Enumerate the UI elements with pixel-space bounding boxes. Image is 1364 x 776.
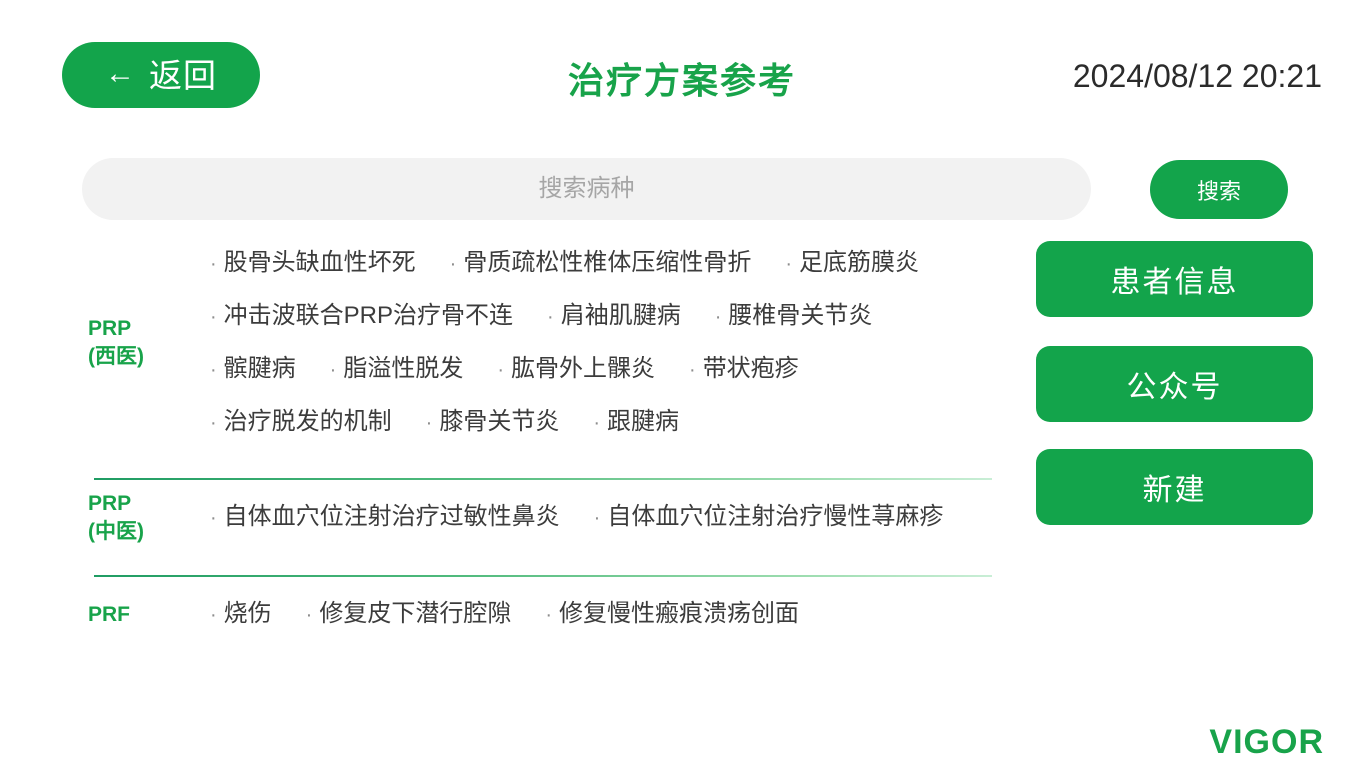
bullet-icon: · xyxy=(594,507,601,529)
disease-item[interactable]: ·股骨头缺血性坏死 xyxy=(210,251,416,275)
bullet-icon: · xyxy=(210,306,217,328)
disease-item[interactable]: ·自体血穴位注射治疗慢性荨麻疹 xyxy=(594,505,944,529)
treatment-reference-page: ← 返回 治疗方案参考 2024/08/12 20:21 搜索 患者信息 公众号… xyxy=(0,0,1364,776)
disease-item-label: 膝骨关节炎 xyxy=(439,408,559,435)
disease-item[interactable]: ·跟腱病 xyxy=(593,410,679,434)
disease-item-label: 修复皮下潜行腔隙 xyxy=(319,600,511,627)
bullet-icon: · xyxy=(210,359,217,381)
bullet-icon: · xyxy=(210,507,217,529)
disease-item-label: 脂溢性脱发 xyxy=(343,355,463,382)
bullet-icon: · xyxy=(547,306,554,328)
bullet-icon: · xyxy=(689,359,696,381)
disease-item[interactable]: ·冲击波联合PRP治疗骨不连 xyxy=(210,304,513,328)
disease-item-label: 髌腱病 xyxy=(224,355,296,382)
disease-item[interactable]: ·带状疱疹 xyxy=(689,357,799,381)
category-label-prp-western: PRP (西医) xyxy=(88,313,196,370)
item-row: ·自体血穴位注射治疗过敏性鼻炎 ·自体血穴位注射治疗慢性荨麻疹 xyxy=(210,490,988,543)
bullet-icon: · xyxy=(785,253,792,275)
disease-item[interactable]: ·肩袖肌腱病 xyxy=(547,304,681,328)
datetime-display: 2024/08/12 20:21 xyxy=(1073,58,1322,95)
search-input[interactable] xyxy=(82,158,1091,220)
disease-item-label: 跟腱病 xyxy=(607,408,679,435)
category-label-line2: (西医) xyxy=(88,343,196,371)
item-row: ·股骨头缺血性坏死 ·骨质疏松性椎体压缩性骨折 ·足底筋膜炎 xyxy=(210,236,988,289)
disease-item-label: 自体血穴位注射治疗过敏性鼻炎 xyxy=(224,503,560,530)
search-button[interactable]: 搜索 xyxy=(1150,160,1288,219)
section-gap xyxy=(88,553,988,575)
disease-item[interactable]: ·足底筋膜炎 xyxy=(785,251,919,275)
category-label-line1: PRP xyxy=(88,492,131,515)
disease-item[interactable]: ·膝骨关节炎 xyxy=(426,410,560,434)
disease-item-label: 骨质疏松性椎体压缩性骨折 xyxy=(463,249,751,276)
category-label-line1: PRP xyxy=(88,317,131,340)
category-prp-chinese: PRP (中医) ·自体血穴位注射治疗过敏性鼻炎 ·自体血穴位注射治疗慢性荨麻疹 xyxy=(88,480,988,553)
disease-item-label: 冲击波联合PRP治疗骨不连 xyxy=(224,302,513,329)
disease-item-label: 股骨头缺血性坏死 xyxy=(224,249,416,276)
bullet-icon: · xyxy=(497,359,504,381)
category-prf: PRF ·烧伤 ·修复皮下潜行腔隙 ·修复慢性瘢痕溃疡创面 xyxy=(88,577,988,640)
official-account-button[interactable]: 公众号 xyxy=(1036,346,1313,422)
bullet-icon: · xyxy=(330,359,337,381)
disease-item[interactable]: ·肱骨外上髁炎 xyxy=(497,357,655,381)
disease-item[interactable]: ·髌腱病 xyxy=(210,357,296,381)
disease-item-label: 腰椎骨关节炎 xyxy=(728,302,872,329)
bullet-icon: · xyxy=(426,412,433,434)
category-label-line1: PRF xyxy=(88,603,130,626)
category-label-prf: PRF xyxy=(88,599,196,629)
disease-item[interactable]: ·自体血穴位注射治疗过敏性鼻炎 xyxy=(210,505,560,529)
bullet-icon: · xyxy=(593,412,600,434)
disease-catalog: PRP (西医) ·股骨头缺血性坏死 ·骨质疏松性椎体压缩性骨折 ·足底筋膜炎 … xyxy=(88,236,988,640)
new-record-button[interactable]: 新建 xyxy=(1036,449,1313,525)
item-row: ·治疗脱发的机制 ·膝骨关节炎 ·跟腱病 xyxy=(210,395,988,448)
disease-item-label: 肩袖肌腱病 xyxy=(561,302,681,329)
category-label-line2: (中医) xyxy=(88,518,196,546)
category-label-prp-chinese: PRP (中医) xyxy=(88,488,196,545)
disease-item[interactable]: ·骨质疏松性椎体压缩性骨折 xyxy=(450,251,752,275)
disease-item[interactable]: ·烧伤 xyxy=(210,602,272,626)
patient-info-button[interactable]: 患者信息 xyxy=(1036,241,1313,317)
bullet-icon: · xyxy=(306,604,313,626)
disease-item-label: 足底筋膜炎 xyxy=(799,249,919,276)
item-row: ·冲击波联合PRP治疗骨不连 ·肩袖肌腱病 ·腰椎骨关节炎 xyxy=(210,289,988,342)
category-items-prf: ·烧伤 ·修复皮下潜行腔隙 ·修复慢性瘢痕溃疡创面 xyxy=(196,587,988,640)
disease-item-label: 带状疱疹 xyxy=(703,355,799,382)
bullet-icon: · xyxy=(210,604,217,626)
item-row: ·烧伤 ·修复皮下潜行腔隙 ·修复慢性瘢痕溃疡创面 xyxy=(210,587,988,640)
disease-item[interactable]: ·脂溢性脱发 xyxy=(330,357,464,381)
disease-item[interactable]: ·腰椎骨关节炎 xyxy=(715,304,873,328)
disease-item[interactable]: ·修复慢性瘢痕溃疡创面 xyxy=(545,602,799,626)
category-items-prp-chinese: ·自体血穴位注射治疗过敏性鼻炎 ·自体血穴位注射治疗慢性荨麻疹 xyxy=(196,490,988,543)
bullet-icon: · xyxy=(210,253,217,275)
bullet-icon: · xyxy=(545,604,552,626)
item-row: ·髌腱病 ·脂溢性脱发 ·肱骨外上髁炎 ·带状疱疹 xyxy=(210,342,988,395)
bullet-icon: · xyxy=(450,253,457,275)
disease-item[interactable]: ·治疗脱发的机制 xyxy=(210,410,392,434)
disease-item-label: 烧伤 xyxy=(224,600,272,627)
disease-item-label: 修复慢性瘢痕溃疡创面 xyxy=(559,600,799,627)
disease-item-label: 自体血穴位注射治疗慢性荨麻疹 xyxy=(607,503,943,530)
section-gap xyxy=(88,454,988,478)
disease-item[interactable]: ·修复皮下潜行腔隙 xyxy=(306,602,512,626)
bullet-icon: · xyxy=(210,412,217,434)
category-prp-western: PRP (西医) ·股骨头缺血性坏死 ·骨质疏松性椎体压缩性骨折 ·足底筋膜炎 … xyxy=(88,236,988,454)
disease-item-label: 肱骨外上髁炎 xyxy=(511,355,655,382)
bullet-icon: · xyxy=(715,306,722,328)
page-header: ← 返回 治疗方案参考 2024/08/12 20:21 xyxy=(0,0,1364,130)
category-items-prp-western: ·股骨头缺血性坏死 ·骨质疏松性椎体压缩性骨折 ·足底筋膜炎 ·冲击波联合PRP… xyxy=(196,236,988,448)
vigor-logo: VIGOR xyxy=(1209,723,1324,762)
disease-item-label: 治疗脱发的机制 xyxy=(224,408,392,435)
